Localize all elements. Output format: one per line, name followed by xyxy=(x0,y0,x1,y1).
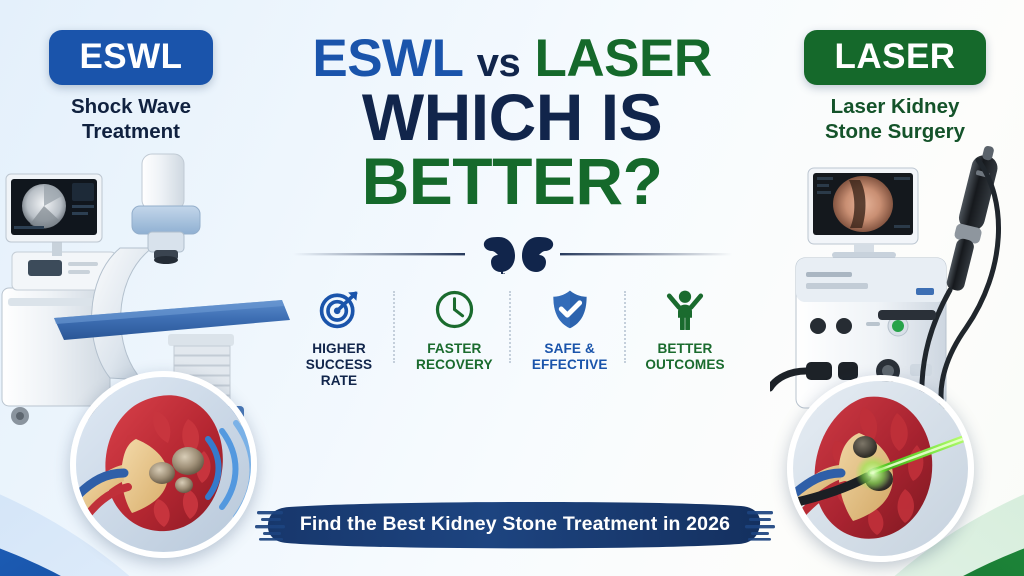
laser-subtitle-line1: Laser Kidney xyxy=(770,94,1020,119)
feature-label-safe-effective: SAFE & EFFECTIVE xyxy=(532,341,608,373)
eswl-subtitle-line1: Shock Wave xyxy=(6,94,256,119)
shield-check-icon xyxy=(549,285,591,333)
feature-label-faster-recovery: FASTER RECOVERY xyxy=(416,341,493,373)
feature-better-outcomes: BETTER OUTCOMES xyxy=(632,285,738,373)
feature-faster-recovery: FASTER RECOVERY xyxy=(401,285,507,373)
feature-label-line1: FASTER xyxy=(416,341,493,357)
banner-text: Find the Best Kidney Stone Treatment in … xyxy=(255,497,775,551)
clock-icon xyxy=(433,285,476,333)
headline-group: ESWL vs LASER WHICH IS BETTER? xyxy=(273,0,751,212)
feature-label-better-outcomes: BETTER OUTCOMES xyxy=(645,341,724,373)
feature-label-line2: SUCCESS RATE xyxy=(286,357,392,389)
feature-label-higher-success-rate: HIGHER SUCCESS RATE xyxy=(286,341,392,388)
headline-laser: LASER xyxy=(534,29,711,88)
feature-label-line2: EFFECTIVE xyxy=(532,357,608,373)
center-column: ESWL vs LASER WHICH IS BETTER? xyxy=(273,0,751,576)
infographic-poster: ESWL Shock Wave Treatment LASER Laser Ki… xyxy=(0,0,1024,576)
feature-label-line1: BETTER xyxy=(645,341,724,357)
laser-subtitle: Laser Kidney Stone Surgery xyxy=(770,94,1020,144)
kidney-laser-inset xyxy=(787,375,974,562)
left-label-group: ESWL Shock Wave Treatment xyxy=(6,30,256,144)
headline-line-1: ESWL vs LASER xyxy=(273,34,751,83)
headline-line-2: WHICH IS xyxy=(273,87,751,148)
target-arrow-icon xyxy=(317,285,361,333)
feature-label-line1: HIGHER xyxy=(286,341,392,357)
feature-safe-effective: SAFE & EFFECTIVE xyxy=(517,285,623,373)
eswl-subtitle-line2: Treatment xyxy=(6,119,256,144)
kidneys-icon xyxy=(483,237,552,274)
eswl-badge: ESWL xyxy=(49,30,212,85)
kidney-shockwave-inset xyxy=(70,371,257,558)
headline-vs: vs xyxy=(477,41,521,85)
headline-line-3: BETTER? xyxy=(273,151,751,212)
headline-eswl: ESWL xyxy=(312,29,462,88)
features-row: HIGHER SUCCESS RATE FASTER RECOVERY xyxy=(286,285,738,388)
right-label-group: LASER Laser Kidney Stone Surgery xyxy=(770,30,1020,144)
feature-label-line2: OUTCOMES xyxy=(645,357,724,373)
feature-label-line1: SAFE & xyxy=(532,341,608,357)
person-raised-arms-icon xyxy=(664,285,706,333)
feature-label-line2: RECOVERY xyxy=(416,357,493,373)
divider xyxy=(285,234,740,274)
laser-subtitle-line2: Stone Surgery xyxy=(770,119,1020,144)
laser-badge: LASER xyxy=(804,30,985,85)
eswl-subtitle: Shock Wave Treatment xyxy=(6,94,256,144)
bottom-banner: Find the Best Kidney Stone Treatment in … xyxy=(255,497,775,551)
feature-higher-success-rate: HIGHER SUCCESS RATE xyxy=(286,285,392,388)
